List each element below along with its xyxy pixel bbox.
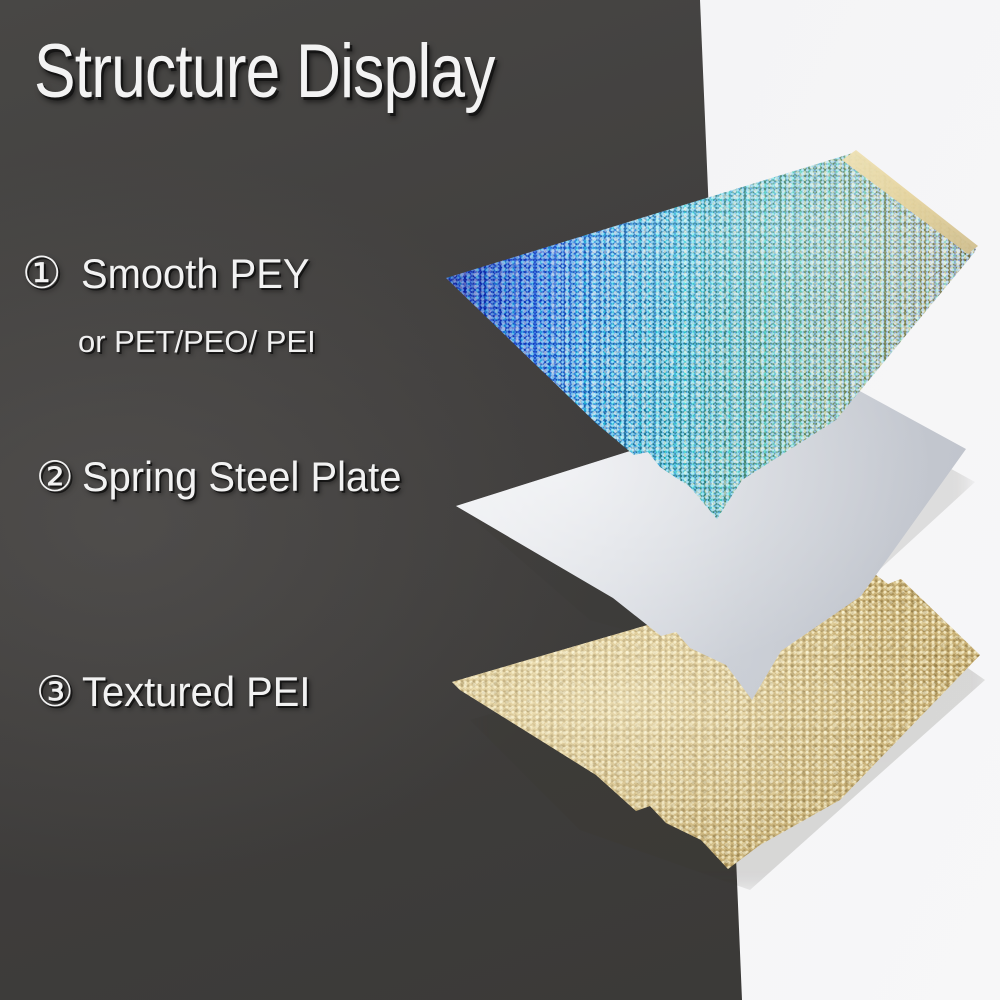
callout-text-1: Smooth PEY	[81, 253, 309, 295]
structure-display-infographic: Structure Display ① Smooth PEY or PET/PE…	[0, 0, 1000, 1000]
callout-label-1: ① Smooth PEY	[22, 252, 322, 296]
callout-marker-2: ②	[36, 456, 74, 498]
callout-label-2: ② Spring Steel Plate	[36, 456, 418, 498]
callout-label-3: ③ Textured PEI	[36, 671, 322, 713]
callout-sublabel-1: or PET/PEO/ PEI	[78, 324, 316, 360]
page-title: Structure Display	[34, 34, 495, 110]
callout-marker-1: ①	[22, 252, 61, 296]
callout-text-3: Textured PEI	[82, 671, 310, 713]
callout-marker-3: ③	[36, 671, 74, 713]
callout-text-2: Spring Steel Plate	[82, 456, 401, 498]
